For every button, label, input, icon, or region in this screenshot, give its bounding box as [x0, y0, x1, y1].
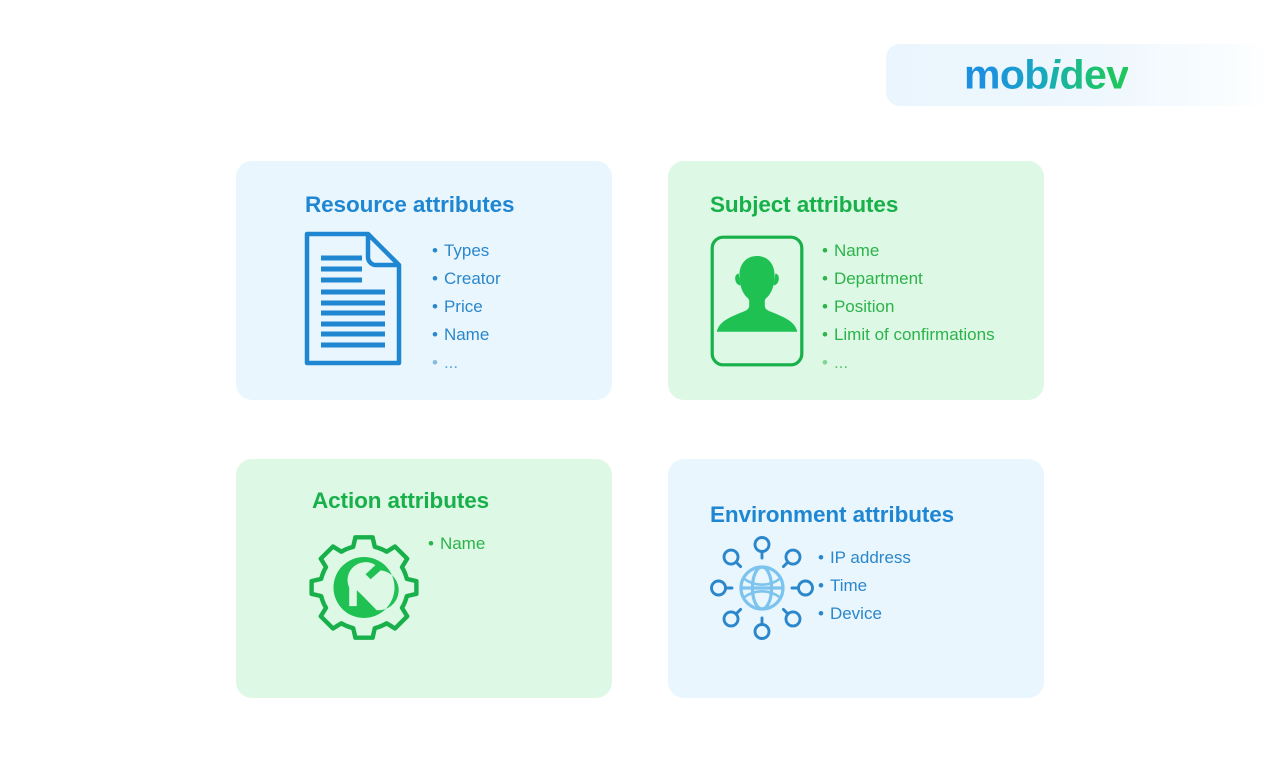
list-item-label: Types [444, 241, 489, 260]
card-title-resource: Resource attributes [305, 194, 514, 217]
bullet-icon: • [818, 572, 824, 600]
bullet-icon: • [818, 600, 824, 628]
list-item: •Name [432, 321, 501, 349]
list-item: •Limit of confirmations [822, 321, 995, 349]
list-item: •Time [818, 572, 911, 600]
list-item: •Name [428, 530, 485, 558]
list-item-label: ... [444, 353, 458, 372]
list-item-label: Device [830, 604, 882, 623]
list-item-label: Limit of confirmations [834, 325, 995, 344]
attribute-list-resource: •Types •Creator •Price •Name •... [432, 237, 501, 377]
bullet-icon: • [822, 293, 828, 321]
list-item: •IP address [818, 544, 911, 572]
attribute-list-action: •Name [428, 530, 485, 558]
brand-logo-band: mobidev [886, 44, 1265, 106]
card-title-subject: Subject attributes [710, 194, 898, 217]
list-item: •Department [822, 265, 995, 293]
bullet-icon: • [432, 265, 438, 293]
list-item: •... [432, 349, 501, 377]
card-title-environment: Environment attributes [710, 504, 954, 527]
list-item: •Name [822, 237, 995, 265]
logo-text-mob: mob [964, 52, 1049, 98]
bullet-icon: • [822, 349, 828, 377]
globe-network-icon [710, 538, 814, 638]
list-item: •Price [432, 293, 501, 321]
list-item-label: Name [444, 325, 489, 344]
list-item-label: Time [830, 576, 867, 595]
logo-text-dev: dev [1060, 52, 1129, 98]
person-badge-icon [710, 235, 804, 367]
bullet-icon: • [432, 293, 438, 321]
list-item-label: Department [834, 269, 923, 288]
list-item: •Creator [432, 265, 501, 293]
gear-wrench-icon [309, 535, 419, 640]
bullet-icon: • [818, 544, 824, 572]
list-item-label: IP address [830, 548, 911, 567]
list-item: •... [822, 349, 995, 377]
bullet-icon: • [822, 321, 828, 349]
bullet-icon: • [428, 530, 434, 558]
attribute-list-subject: •Name •Department •Position •Limit of co… [822, 237, 995, 377]
list-item-label: ... [834, 353, 848, 372]
bullet-icon: • [432, 321, 438, 349]
list-item-label: Creator [444, 269, 501, 288]
diagram-canvas: mobidev Resource attributes [0, 0, 1280, 780]
card-environment-attributes: Environment attributes [668, 459, 1044, 698]
card-resource-attributes: Resource attributes •Types [236, 161, 612, 400]
bullet-icon: • [432, 349, 438, 377]
mobidev-logo: mobidev [964, 55, 1128, 96]
list-item-label: Position [834, 297, 894, 316]
card-subject-attributes: Subject attributes •Name •Department •Po… [668, 161, 1044, 400]
card-action-attributes: Action attributes •Name [236, 459, 612, 698]
document-icon [304, 231, 402, 366]
list-item: •Types [432, 237, 501, 265]
list-item: •Device [818, 600, 911, 628]
bullet-icon: • [822, 237, 828, 265]
bullet-icon: • [822, 265, 828, 293]
logo-text-i: i [1049, 52, 1060, 98]
list-item-label: Name [440, 534, 485, 553]
attribute-list-environment: •IP address •Time •Device [818, 544, 911, 628]
list-item: •Position [822, 293, 995, 321]
list-item-label: Name [834, 241, 879, 260]
card-title-action: Action attributes [312, 490, 489, 513]
list-item-label: Price [444, 297, 483, 316]
bullet-icon: • [432, 237, 438, 265]
